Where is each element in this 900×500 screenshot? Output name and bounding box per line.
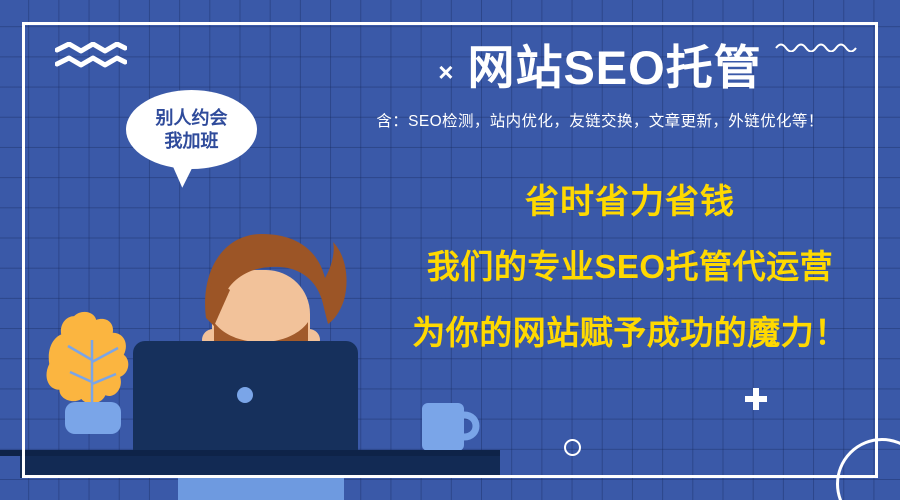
slogan-line-2: 我们的专业SEO托管代运营 [360, 250, 900, 283]
speech-bubble: 别人约会 我加班 [126, 90, 257, 169]
cross-bullet-icon: × [438, 51, 453, 85]
large-circle-outline-icon [836, 438, 900, 500]
seo-hosting-banner: 别人约会 我加班 × 网站SEO托管 含：SEO检测，站内优化，友链交换，文章更… [0, 0, 900, 500]
headline-block: × 网站SEO托管 含：SEO检测，站内优化，友链交换，文章更新，外链优化等！ [300, 44, 900, 131]
speech-bubble-line-1: 别人约会 [156, 107, 228, 130]
slogan-line-3: 为你的网站赋予成功的魔力！ [360, 316, 900, 349]
slogan-block: 省时省力省钱 我们的专业SEO托管代运营 为你的网站赋予成功的魔力！ [360, 185, 900, 349]
page-title: 网站SEO托管 [467, 44, 761, 91]
slogan-line-1: 省时省力省钱 [360, 185, 900, 219]
speech-bubble-line-2: 我加班 [165, 130, 219, 153]
plus-icon [745, 388, 767, 410]
title-row: × 网站SEO托管 [300, 44, 900, 91]
double-wave-icon [55, 42, 127, 68]
subtitle: 含：SEO检测，站内优化，友链交换，文章更新，外链优化等！ [300, 109, 900, 131]
small-circle-outline-icon [564, 439, 581, 456]
